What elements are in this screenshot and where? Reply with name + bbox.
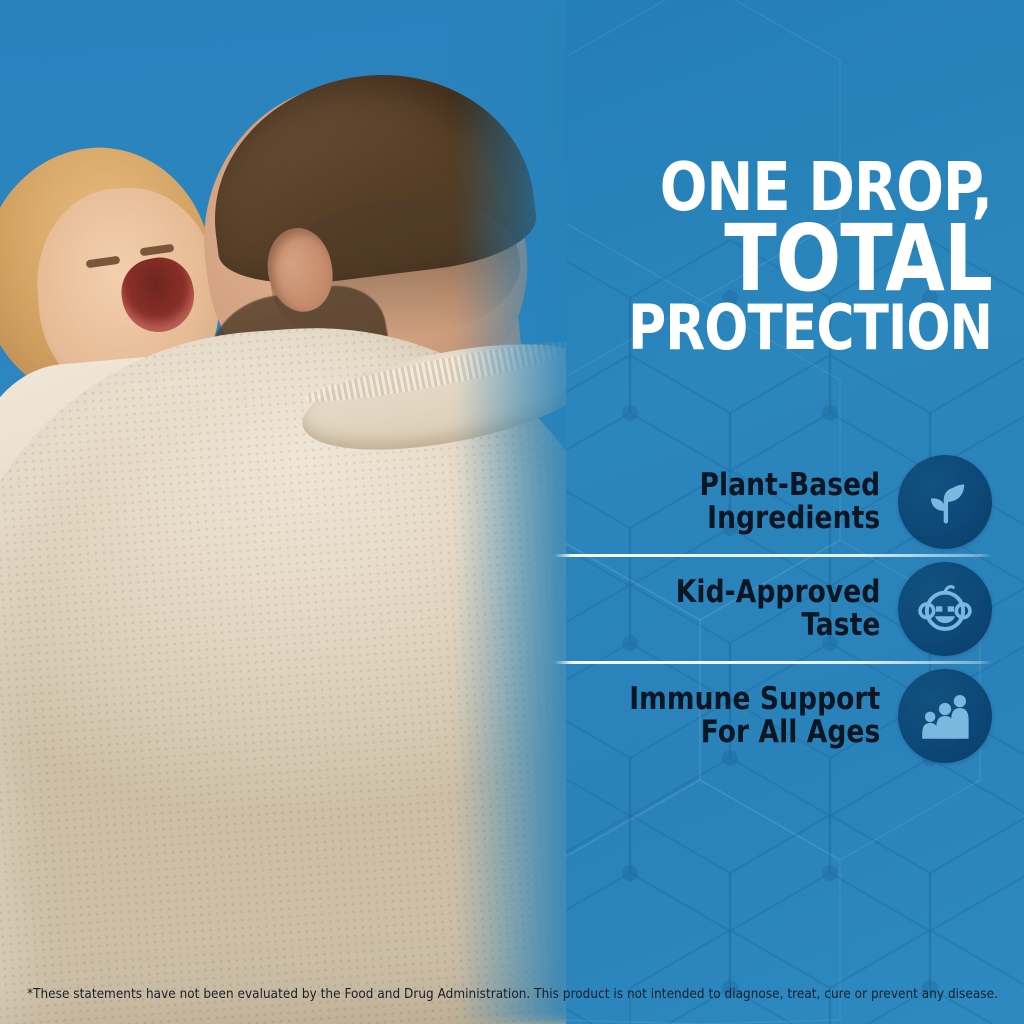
photo-right-fade-edge — [456, 0, 566, 1024]
father-holding-laughing-child-photo — [0, 0, 566, 1024]
sprout-plant-icon — [898, 455, 992, 549]
feature-item-immune-support: Immune Support For All Ages — [552, 664, 992, 768]
baby-face-icon — [898, 562, 992, 656]
right-content-column: ONE DROP, TOTAL PROTECTION Plant-Based I… — [552, 0, 1024, 1024]
feature-item-plant-based: Plant-Based Ingredients — [552, 450, 992, 554]
feature-label-immune-support: Immune Support For All Ages — [629, 683, 880, 748]
headline-line-2: TOTAL — [583, 218, 992, 300]
page-title: ONE DROP, TOTAL PROTECTION — [583, 158, 992, 355]
headline-line-3: PROTECTION — [583, 300, 992, 355]
feature-label-kid-approved: Kid-Approved Taste — [675, 576, 880, 641]
feature-label-plant-based: Plant-Based Ingredients — [699, 469, 880, 534]
fda-disclaimer-text: *These statements have not been evaluate… — [27, 986, 998, 1002]
product-marketing-poster: ONE DROP, TOTAL PROTECTION Plant-Based I… — [0, 0, 1024, 1024]
footer-disclaimer-bar: *These statements have not been evaluate… — [0, 974, 1024, 1024]
family-group-icon — [898, 669, 992, 763]
feature-list: Plant-Based Ingredients Kid-Approved Tas… — [552, 450, 992, 768]
feature-item-kid-approved: Kid-Approved Taste — [552, 557, 992, 661]
